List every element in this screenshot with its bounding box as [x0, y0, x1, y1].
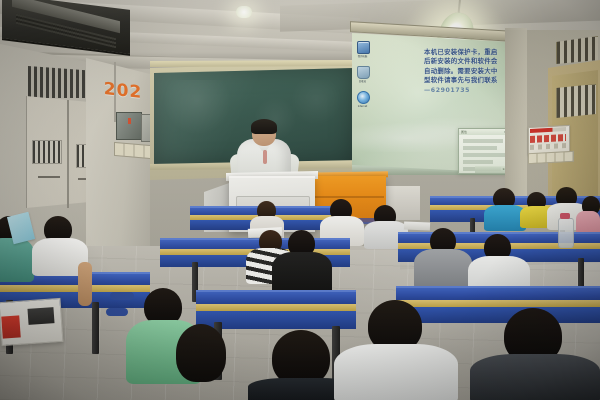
cabinet-seam — [306, 196, 384, 198]
recycle-bin-icon[interactable]: 回收站 — [357, 66, 368, 83]
door-handle-icon[interactable] — [38, 176, 60, 178]
student-torso — [0, 238, 34, 282]
room-number-sign: 202 — [100, 78, 146, 105]
desk-edge — [196, 304, 356, 311]
door-seam — [67, 100, 69, 208]
notice-line-2: 后新安装的文件和软件会 — [424, 57, 504, 66]
classroom-photo: 202 我的电脑 回收站 Internet 本机已安装保护卡，重启 后新安装的文… — [0, 0, 600, 400]
my-computer-glyph — [357, 41, 370, 54]
sandal-icon — [106, 308, 128, 316]
recycle-bin-glyph — [357, 66, 370, 79]
dialog-row — [463, 139, 503, 143]
desk-leg — [92, 302, 99, 354]
my-computer-label: 我的电脑 — [357, 55, 368, 58]
book-cover — [1, 315, 20, 338]
electrical-panel-icon — [116, 112, 142, 140]
notice-line-1: 本机已安装保护卡，重启 — [424, 48, 504, 57]
desk-edge — [396, 300, 600, 307]
presenter-lanyard — [263, 150, 267, 164]
recycle-bin-label: 回收站 — [357, 80, 368, 83]
student-hair — [176, 324, 226, 382]
student-torso — [334, 344, 458, 400]
student-leg — [78, 262, 92, 306]
student-torso — [414, 249, 472, 289]
notice-line-3: 自动删除。需要安装大中 — [424, 67, 504, 76]
internet-explorer-icon[interactable]: Internet — [357, 91, 368, 108]
water-bottle[interactable] — [558, 218, 574, 248]
notice-line-4: 型软件请事先与我们联系 — [424, 76, 504, 85]
student-torso — [470, 354, 600, 400]
desk-skirt — [396, 307, 600, 323]
fluorescent-light-far-icon — [236, 6, 252, 18]
panel-indicator-led — [128, 118, 131, 124]
blackboard-top-rail — [150, 60, 360, 67]
dialog-row — [463, 160, 493, 164]
door-window-grille-icon — [32, 140, 62, 164]
pencil-case[interactable] — [27, 307, 54, 325]
notice-phone-number: —62901735 — [424, 86, 504, 96]
bottle-cap — [560, 213, 570, 219]
internet-explorer-label: Internet — [357, 105, 368, 108]
presenter-hair — [251, 119, 277, 134]
sandal-icon — [110, 292, 134, 300]
my-computer-icon[interactable]: 我的电脑 — [357, 41, 368, 58]
dialog-row — [463, 146, 497, 150]
notebook[interactable] — [404, 222, 430, 231]
projected-notice-text: 本机已安装保护卡，重启 后新安装的文件和软件会 自动删除。需要安装大中 型软件请… — [424, 48, 504, 96]
dialog-row — [463, 153, 505, 157]
desk-edge — [0, 285, 150, 292]
internet-explorer-glyph — [357, 91, 370, 104]
